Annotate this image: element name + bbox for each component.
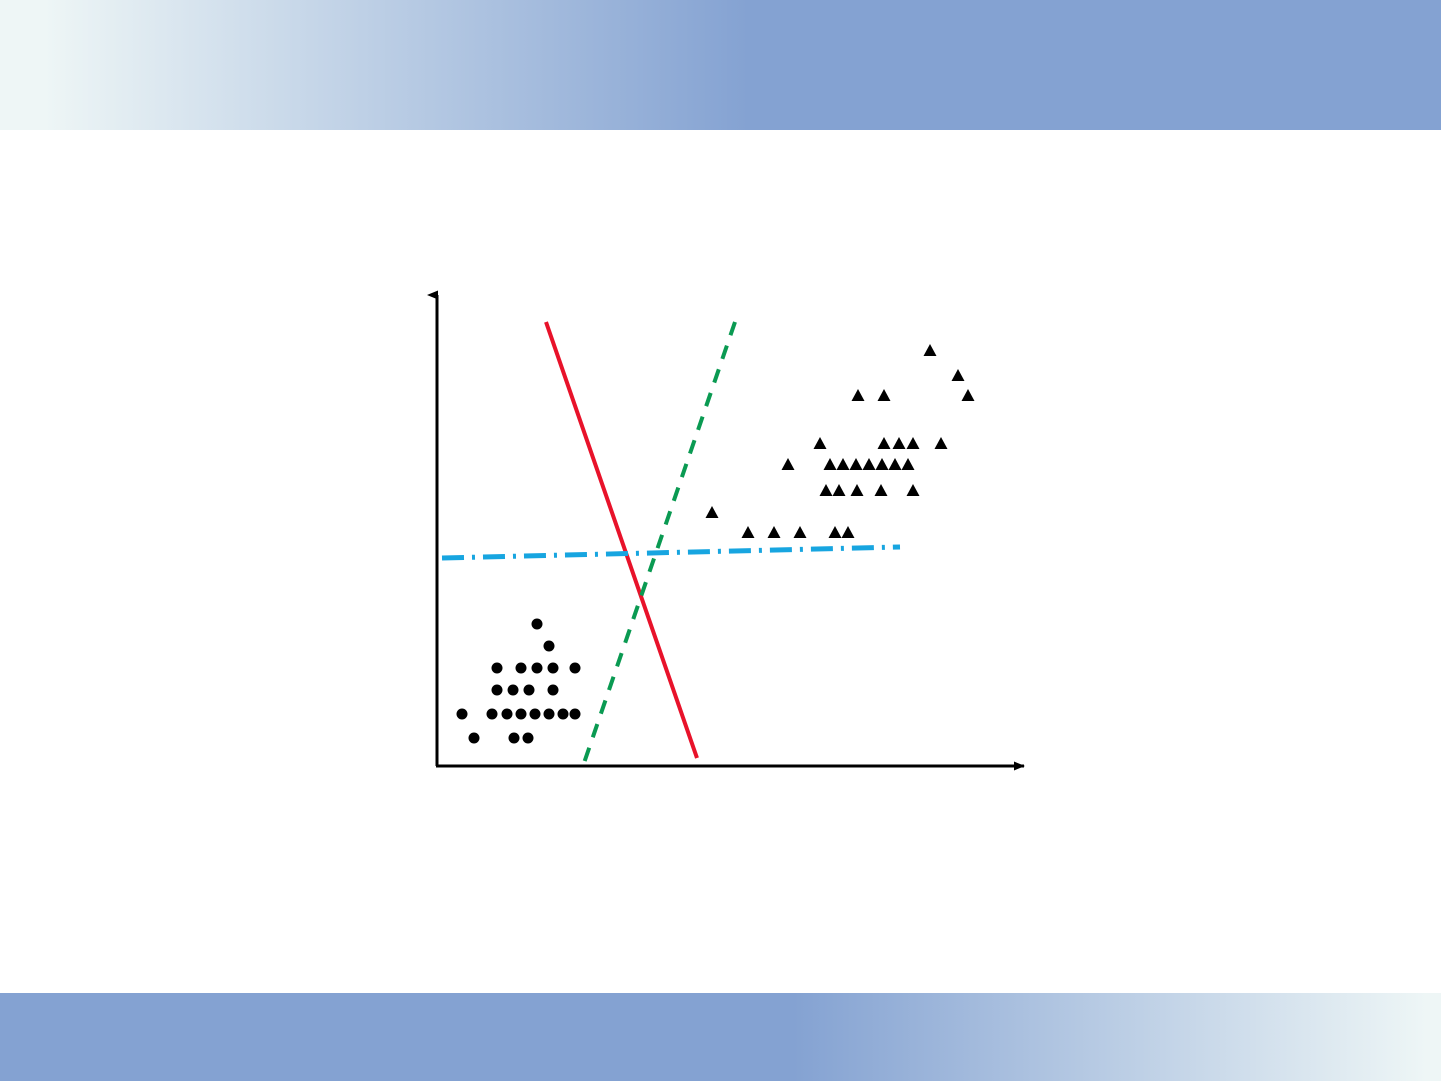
data-point-circle	[530, 709, 541, 720]
data-point-triangle	[893, 437, 906, 449]
green-dashed-boundary	[584, 322, 735, 763]
data-point-circle	[509, 733, 520, 744]
data-point-triangle	[952, 369, 965, 381]
data-point-circle	[532, 663, 543, 674]
data-point-triangle	[907, 484, 920, 496]
data-point-triangle	[852, 389, 865, 401]
data-point-triangle	[833, 484, 846, 496]
series-class-circles	[457, 619, 581, 744]
data-point-circle	[469, 733, 480, 744]
scatter-plot-svg	[0, 0, 1441, 1081]
data-point-circle	[570, 663, 581, 674]
data-point-triangle	[962, 389, 975, 401]
data-point-triangle	[742, 526, 755, 538]
data-point-triangle	[924, 344, 937, 356]
data-point-triangle	[850, 458, 863, 470]
blue-dashdot-boundary	[442, 547, 900, 558]
data-point-circle	[516, 709, 527, 720]
series-class-triangles	[706, 344, 975, 538]
data-point-triangle	[814, 437, 827, 449]
data-point-circle	[516, 663, 527, 674]
data-point-triangle	[907, 437, 920, 449]
data-point-triangle	[842, 526, 855, 538]
data-point-triangle	[824, 458, 837, 470]
bottom-decorative-banner	[0, 993, 1441, 1081]
data-point-circle	[524, 685, 535, 696]
red-solid-boundary	[546, 322, 697, 758]
data-point-triangle	[837, 458, 850, 470]
data-point-triangle	[851, 484, 864, 496]
data-point-triangle	[782, 458, 795, 470]
data-point-circle	[508, 685, 519, 696]
decision-boundary-lines	[442, 322, 900, 763]
data-point-triangle	[794, 526, 807, 538]
data-point-triangle	[875, 484, 888, 496]
chart-axes	[436, 295, 1024, 766]
data-point-circle	[570, 709, 581, 720]
scatter-plot-figure	[0, 0, 1441, 1081]
data-point-triangle	[829, 526, 842, 538]
data-point-circle	[544, 641, 555, 652]
data-point-triangle	[889, 458, 902, 470]
data-point-circle	[523, 733, 534, 744]
data-point-series	[457, 344, 975, 744]
data-point-circle	[558, 709, 569, 720]
data-point-circle	[502, 709, 513, 720]
data-point-circle	[532, 619, 543, 630]
data-point-circle	[548, 663, 559, 674]
data-point-circle	[548, 685, 559, 696]
data-point-circle	[487, 709, 498, 720]
data-point-triangle	[768, 526, 781, 538]
data-point-circle	[544, 709, 555, 720]
data-point-triangle	[878, 437, 891, 449]
data-point-circle	[457, 709, 468, 720]
data-point-triangle	[902, 458, 915, 470]
data-point-triangle	[935, 437, 948, 449]
slide-canvas	[0, 0, 1441, 1081]
data-point-triangle	[820, 484, 833, 496]
data-point-triangle	[863, 458, 876, 470]
data-point-triangle	[706, 506, 719, 518]
data-point-circle	[492, 685, 503, 696]
data-point-circle	[492, 663, 503, 674]
data-point-triangle	[878, 389, 891, 401]
data-point-triangle	[876, 458, 889, 470]
